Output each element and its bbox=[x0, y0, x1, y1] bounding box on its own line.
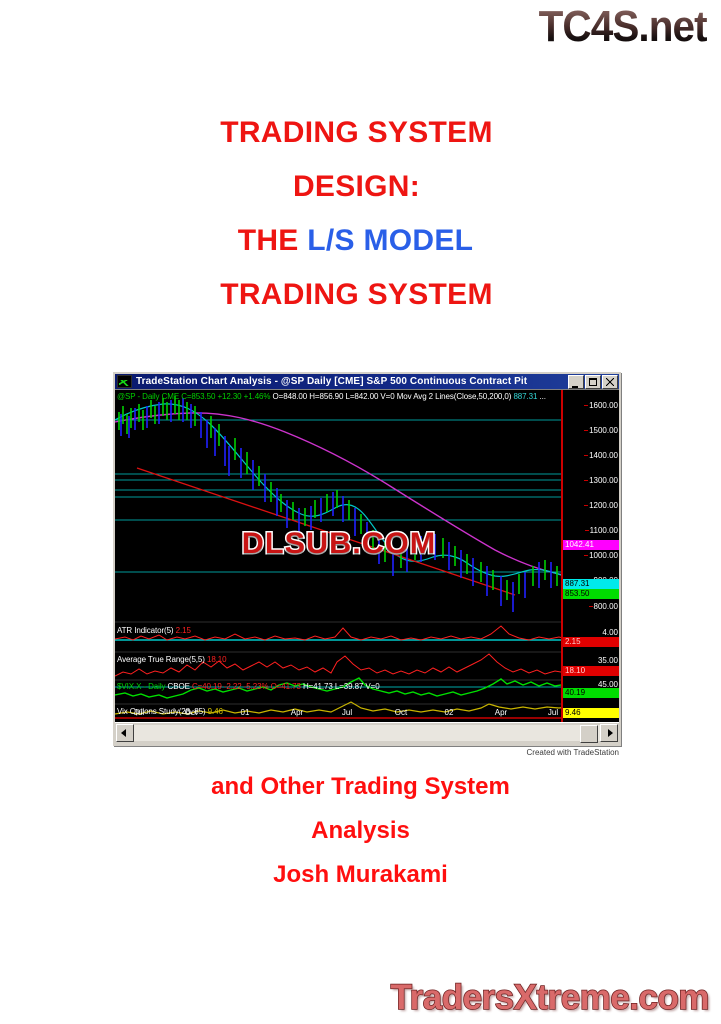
vix-volume: V=0 bbox=[365, 682, 379, 691]
vix-close: C=40.19 bbox=[192, 682, 222, 691]
close-icon[interactable] bbox=[602, 375, 618, 389]
title-line-3: THE L/S MODEL bbox=[0, 214, 721, 268]
average-true-range-label: Average True Range(5,5) bbox=[117, 655, 205, 664]
vix-options-study-marker: 9.46 bbox=[563, 708, 619, 718]
title-line-2: DESIGN: bbox=[0, 160, 721, 214]
price-tick-1200: 1200.00 bbox=[589, 501, 618, 510]
window-buttons bbox=[568, 375, 618, 389]
title-line-3-highlight: L/S MODEL bbox=[307, 224, 473, 257]
title-block: TRADING SYSTEM DESIGN: THE L/S MODEL TRA… bbox=[0, 106, 721, 322]
atr-indicator-label: ATR Indicator(5) bbox=[117, 626, 174, 635]
scroll-right-arrow-icon[interactable] bbox=[600, 724, 618, 742]
x-axis: Jul Oct 01 Apr Jul Oct 02 Apr Jul bbox=[115, 708, 507, 721]
legend-volume: V=0 bbox=[380, 392, 394, 401]
atr-indicator-legend: ATR Indicator(5) 2.15 bbox=[117, 626, 191, 635]
window-title-bar[interactable]: TradeStation Chart Analysis - @SP Daily … bbox=[115, 374, 619, 389]
legend-study-value: 887.31 bbox=[513, 392, 537, 401]
average-true-range-legend: Average True Range(5,5) 18.10 bbox=[117, 655, 227, 664]
vix-exchange: CBOE bbox=[168, 682, 190, 691]
atr-tick-4: 4.00 bbox=[602, 628, 618, 637]
vix-legend: $VIX.X - Daily CBOE C=40.19 -2.22 -5.23%… bbox=[117, 682, 380, 691]
scroll-left-arrow-icon[interactable] bbox=[116, 724, 134, 742]
maximize-button[interactable] bbox=[585, 375, 601, 389]
price-tick-1100: 1100.00 bbox=[590, 526, 618, 535]
vix-open: O=41.73 bbox=[271, 682, 301, 691]
watermark-dlsub: DLSUB.COM bbox=[242, 527, 436, 561]
title-line-1: TRADING SYSTEM bbox=[0, 106, 721, 160]
caption-block: and Other Trading System Analysis Josh M… bbox=[0, 765, 721, 897]
price-tick-1500: 1500.00 bbox=[589, 426, 618, 435]
scroll-track[interactable] bbox=[134, 725, 600, 741]
legend-close: C=853.50 bbox=[181, 392, 215, 401]
x-tick-3: Apr bbox=[291, 708, 303, 717]
vix-high: H=41.73 bbox=[303, 682, 333, 691]
average-true-range-value: 18.10 bbox=[207, 655, 227, 664]
price-marker-close: 853.50 bbox=[563, 589, 619, 599]
atr-marker: 2.15 bbox=[563, 637, 619, 647]
caption-author: Josh Murakami bbox=[0, 853, 721, 897]
brand-logo-bottom: TradersXtreme.com bbox=[391, 978, 709, 1018]
created-with-credit: Created with TradeStation bbox=[113, 748, 621, 757]
atr-range-tick-35: 35.00 bbox=[598, 656, 618, 665]
scroll-thumb[interactable] bbox=[580, 725, 598, 743]
vix-low: L=39.87 bbox=[335, 682, 363, 691]
brand-logo-top: TC4S.net bbox=[539, 2, 707, 52]
price-tick-1400: 1400.00 bbox=[589, 451, 618, 460]
x-tick-5: Oct bbox=[395, 708, 407, 717]
chart-canvas-area[interactable]: @SP - Daily CME C=853.50 +12.30 +1.46% O… bbox=[115, 389, 619, 722]
cover-page: TC4S.net TRADING SYSTEM DESIGN: THE L/S … bbox=[0, 0, 721, 1024]
minimize-button[interactable] bbox=[568, 375, 584, 389]
horizontal-scrollbar[interactable] bbox=[115, 722, 619, 742]
price-tick-1000: 1000.00 bbox=[589, 551, 618, 560]
legend-high: H=856.90 bbox=[309, 392, 343, 401]
x-tick-8: Jul bbox=[548, 708, 558, 717]
x-tick-2: 01 bbox=[241, 708, 250, 717]
legend-open: O=848.00 bbox=[273, 392, 308, 401]
x-tick-0: Jul bbox=[134, 708, 144, 717]
x-tick-6: 02 bbox=[445, 708, 454, 717]
x-tick-4: Jul bbox=[342, 708, 352, 717]
price-pane-legend: @SP - Daily CME C=853.50 +12.30 +1.46% O… bbox=[117, 392, 546, 401]
legend-exchange: CME bbox=[162, 392, 179, 401]
title-line-3-prefix: THE bbox=[238, 224, 308, 257]
caption-line-2: Analysis bbox=[0, 809, 721, 853]
window-title-text: TradeStation Chart Analysis - @SP Daily … bbox=[136, 376, 568, 387]
legend-low: L=842.00 bbox=[346, 392, 379, 401]
title-line-4: TRADING SYSTEM bbox=[0, 268, 721, 322]
x-tick-1: Oct bbox=[185, 708, 197, 717]
atr-range-marker: 18.10 bbox=[563, 666, 619, 676]
x-tick-7: Apr bbox=[495, 708, 507, 717]
vix-symbol: $VIX.X - Daily bbox=[117, 682, 165, 691]
legend-change: +12.30 bbox=[217, 392, 241, 401]
vix-marker: 40.19 bbox=[563, 688, 619, 698]
price-tick-1300: 1300.00 bbox=[589, 476, 618, 485]
legend-change-pct: +1.46% bbox=[244, 392, 271, 401]
caption-line-1: and Other Trading System bbox=[0, 765, 721, 809]
vix-change-pct: -5.23% bbox=[244, 682, 269, 691]
legend-ellipsis: ... bbox=[539, 392, 545, 401]
legend-symbol: @SP - Daily bbox=[117, 392, 159, 401]
price-scale[interactable]: 1600.00 1500.00 1400.00 1300.00 1200.00 … bbox=[561, 390, 619, 722]
price-tick-800: 800.00 bbox=[594, 602, 618, 611]
tradestation-chart-window: TradeStation Chart Analysis - @SP Daily … bbox=[113, 372, 621, 746]
price-marker-ma-fast: 887.31 bbox=[563, 579, 619, 589]
legend-study-name: Mov Avg 2 Lines(Close,50,200,0) bbox=[397, 392, 512, 401]
chart-icon bbox=[117, 375, 132, 388]
chart-plot: @SP - Daily CME C=853.50 +12.30 +1.46% O… bbox=[115, 390, 563, 722]
price-tick-1600: 1600.00 bbox=[589, 401, 618, 410]
vix-change: -2.22 bbox=[224, 682, 242, 691]
price-marker-ma-slow: 1042.41 bbox=[563, 540, 619, 550]
atr-indicator-value: 2.15 bbox=[176, 626, 191, 635]
